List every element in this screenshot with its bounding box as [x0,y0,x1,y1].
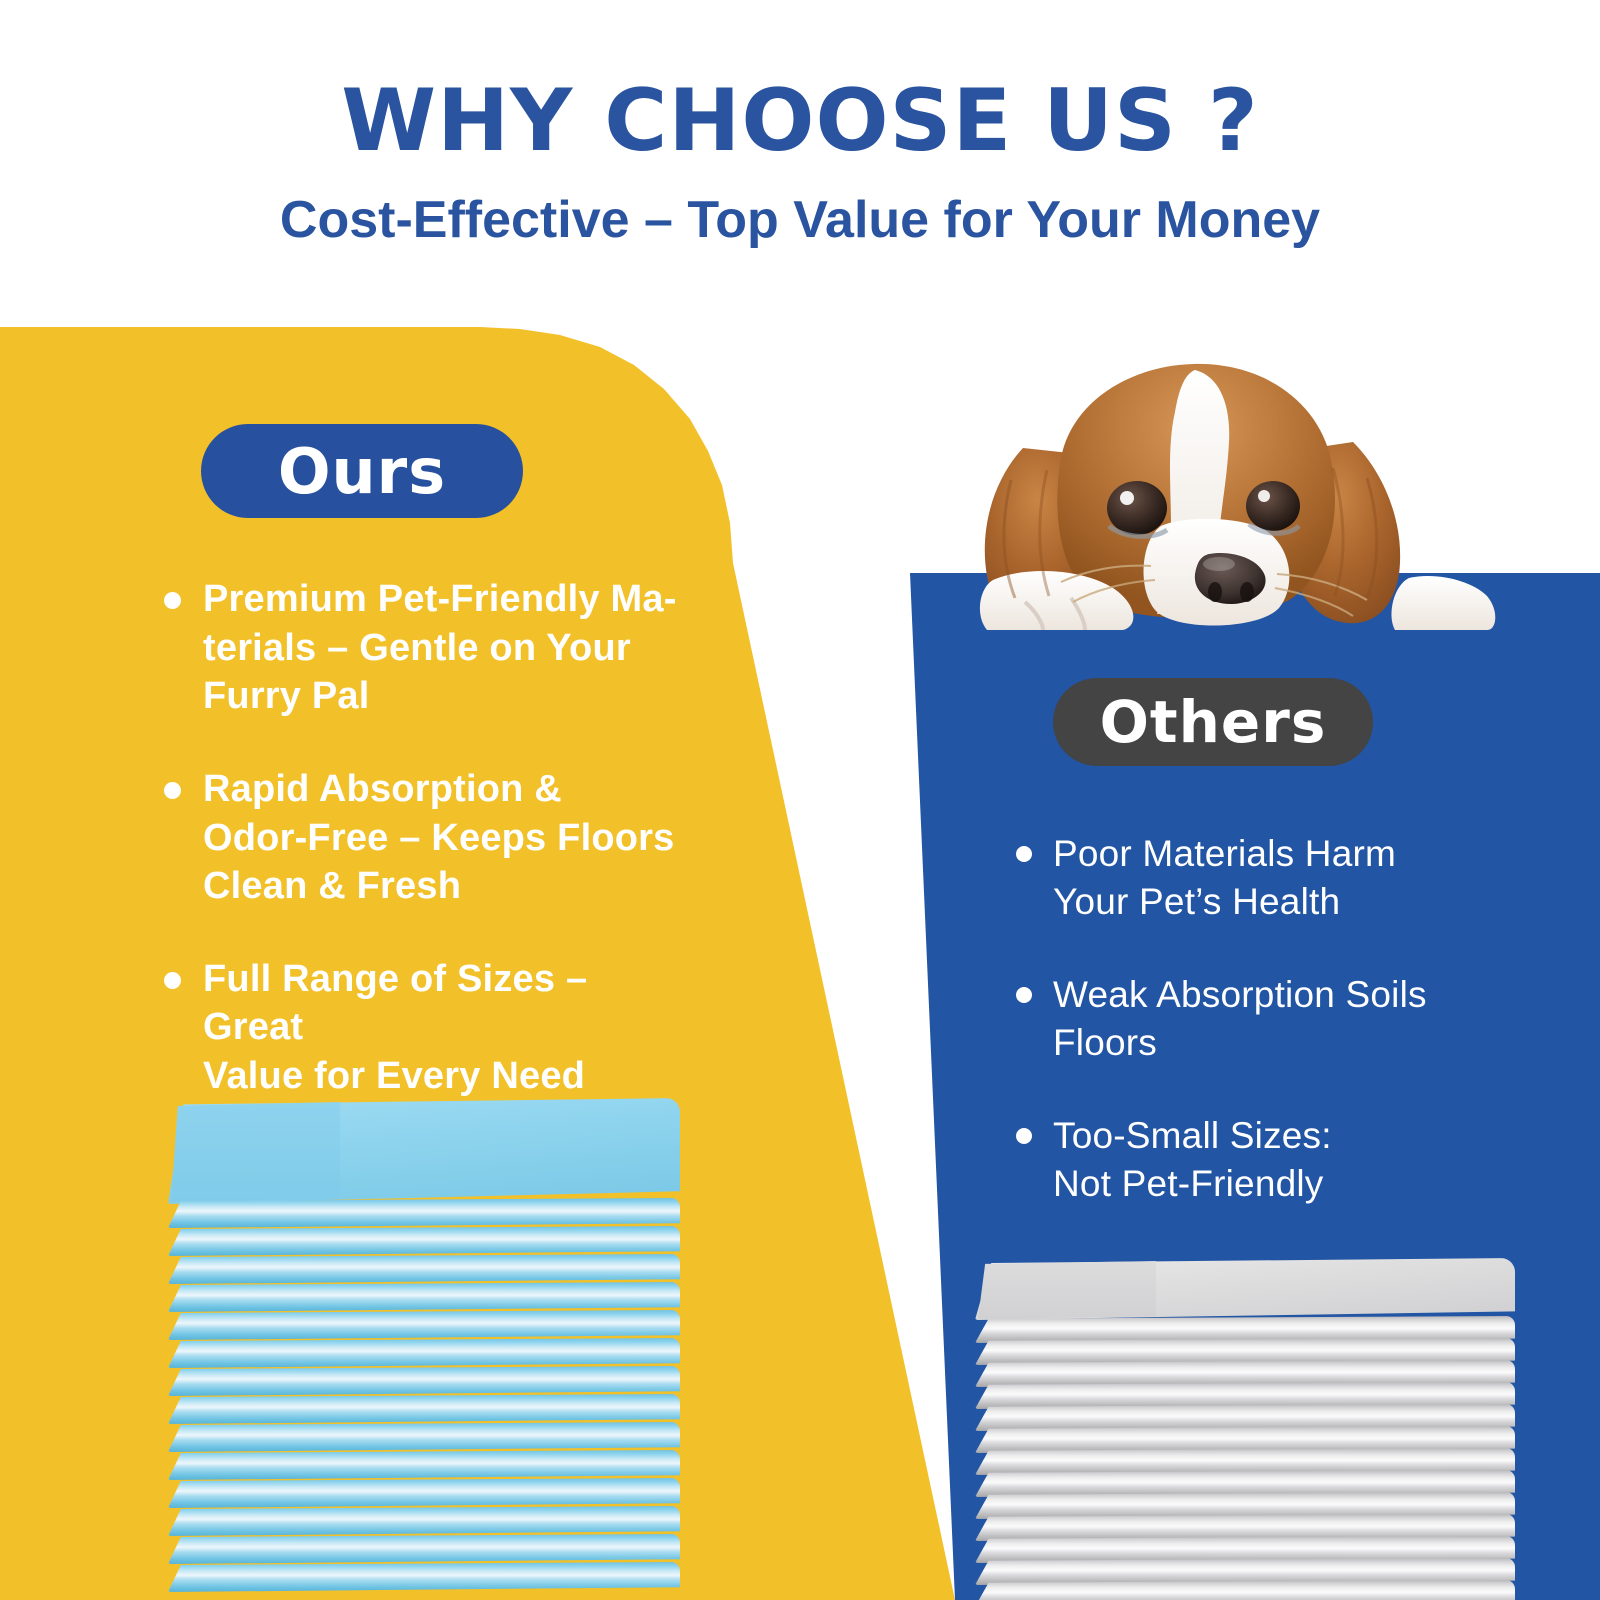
bullet-line: Value for Every Need [203,1052,695,1101]
bullet-dot-icon [164,972,181,989]
ours-badge-label: Ours [278,435,446,508]
list-item: Rapid Absorption & Odor-Free – Keeps Flo… [155,765,695,911]
left-nostril [1208,582,1222,602]
others-product-image [975,1258,1515,1600]
pad-top-flap [978,1261,1156,1319]
bullet-line: Too-Small Sizes: [1053,1112,1458,1160]
pad-layer [168,1310,680,1340]
infographic-canvas: WHY CHOOSE US ? Cost-Effective – Top Val… [0,0,1600,1600]
pad-layer [975,1580,1515,1600]
bullet-line: Floors [1053,1019,1458,1067]
bullet-line: terials – Gentle on Your [203,624,695,673]
bullet-line: Weak Absorption Soils [1053,971,1458,1019]
ours-product-image [168,1098,680,1600]
right-eye-highlight [1258,490,1270,502]
pad-top-flap [171,1102,340,1202]
bullet-line: Premium Pet-Friendly Ma- [203,575,695,624]
left-eye [1107,481,1167,535]
right-nostril [1240,582,1254,602]
pad-layer [168,1254,680,1284]
bullet-line: Rapid Absorption & [203,765,695,814]
pad-layer [168,1478,680,1508]
page-subtitle: Cost-Effective – Top Value for Your Mone… [0,192,1600,249]
others-badge: Others [1053,678,1373,766]
pad-layer [168,1450,680,1480]
bullet-line: Full Range of Sizes – Great [203,955,695,1052]
pad-layer [168,1338,680,1368]
list-item: Poor Materials Harm Your Pet’s Health [1008,830,1458,926]
pad-layer [168,1506,680,1536]
list-item: Too-Small Sizes: Not Pet-Friendly [1008,1112,1458,1208]
bullet-dot-icon [164,782,181,799]
pad-layer [168,1534,680,1564]
list-item: Weak Absorption Soils Floors [1008,971,1458,1067]
bullet-line: Odor-Free – Keeps Floors [203,814,695,863]
page-title: WHY CHOOSE US ? [0,78,1600,166]
list-item: Premium Pet-Friendly Ma- terials – Gentl… [155,575,695,721]
bullet-line: Poor Materials Harm [1053,830,1458,878]
bullet-line: Not Pet-Friendly [1053,1160,1458,1208]
others-bullet-list: Poor Materials Harm Your Pet’s Health We… [1008,830,1458,1254]
pad-layer [168,1562,680,1592]
bullet-line: Furry Pal [203,672,695,721]
left-eye-highlight [1120,491,1134,505]
pad-layer [168,1422,680,1452]
bullet-dot-icon [1016,1128,1032,1144]
pad-layer [168,1394,680,1424]
bullet-dot-icon [1016,987,1032,1003]
ours-badge: Ours [201,424,523,518]
nose-highlight [1203,557,1235,571]
pad-layer [168,1226,680,1256]
bullet-dot-icon [1016,846,1032,862]
right-eye [1246,481,1300,531]
pad-layer [168,1198,680,1228]
pad-layer [168,1282,680,1312]
ours-bullet-list: Premium Pet-Friendly Ma- terials – Gentl… [155,575,695,1145]
list-item: Full Range of Sizes – Great Value for Ev… [155,955,695,1101]
bullet-line: Your Pet’s Health [1053,878,1458,926]
right-paw [1391,576,1495,630]
pad-layer [168,1366,680,1396]
header-section: WHY CHOOSE US ? Cost-Effective – Top Val… [0,0,1600,327]
others-badge-label: Others [1100,688,1327,756]
puppy-photo [875,330,1515,630]
bullet-dot-icon [164,592,181,609]
bullet-line: Clean & Fresh [203,862,695,911]
